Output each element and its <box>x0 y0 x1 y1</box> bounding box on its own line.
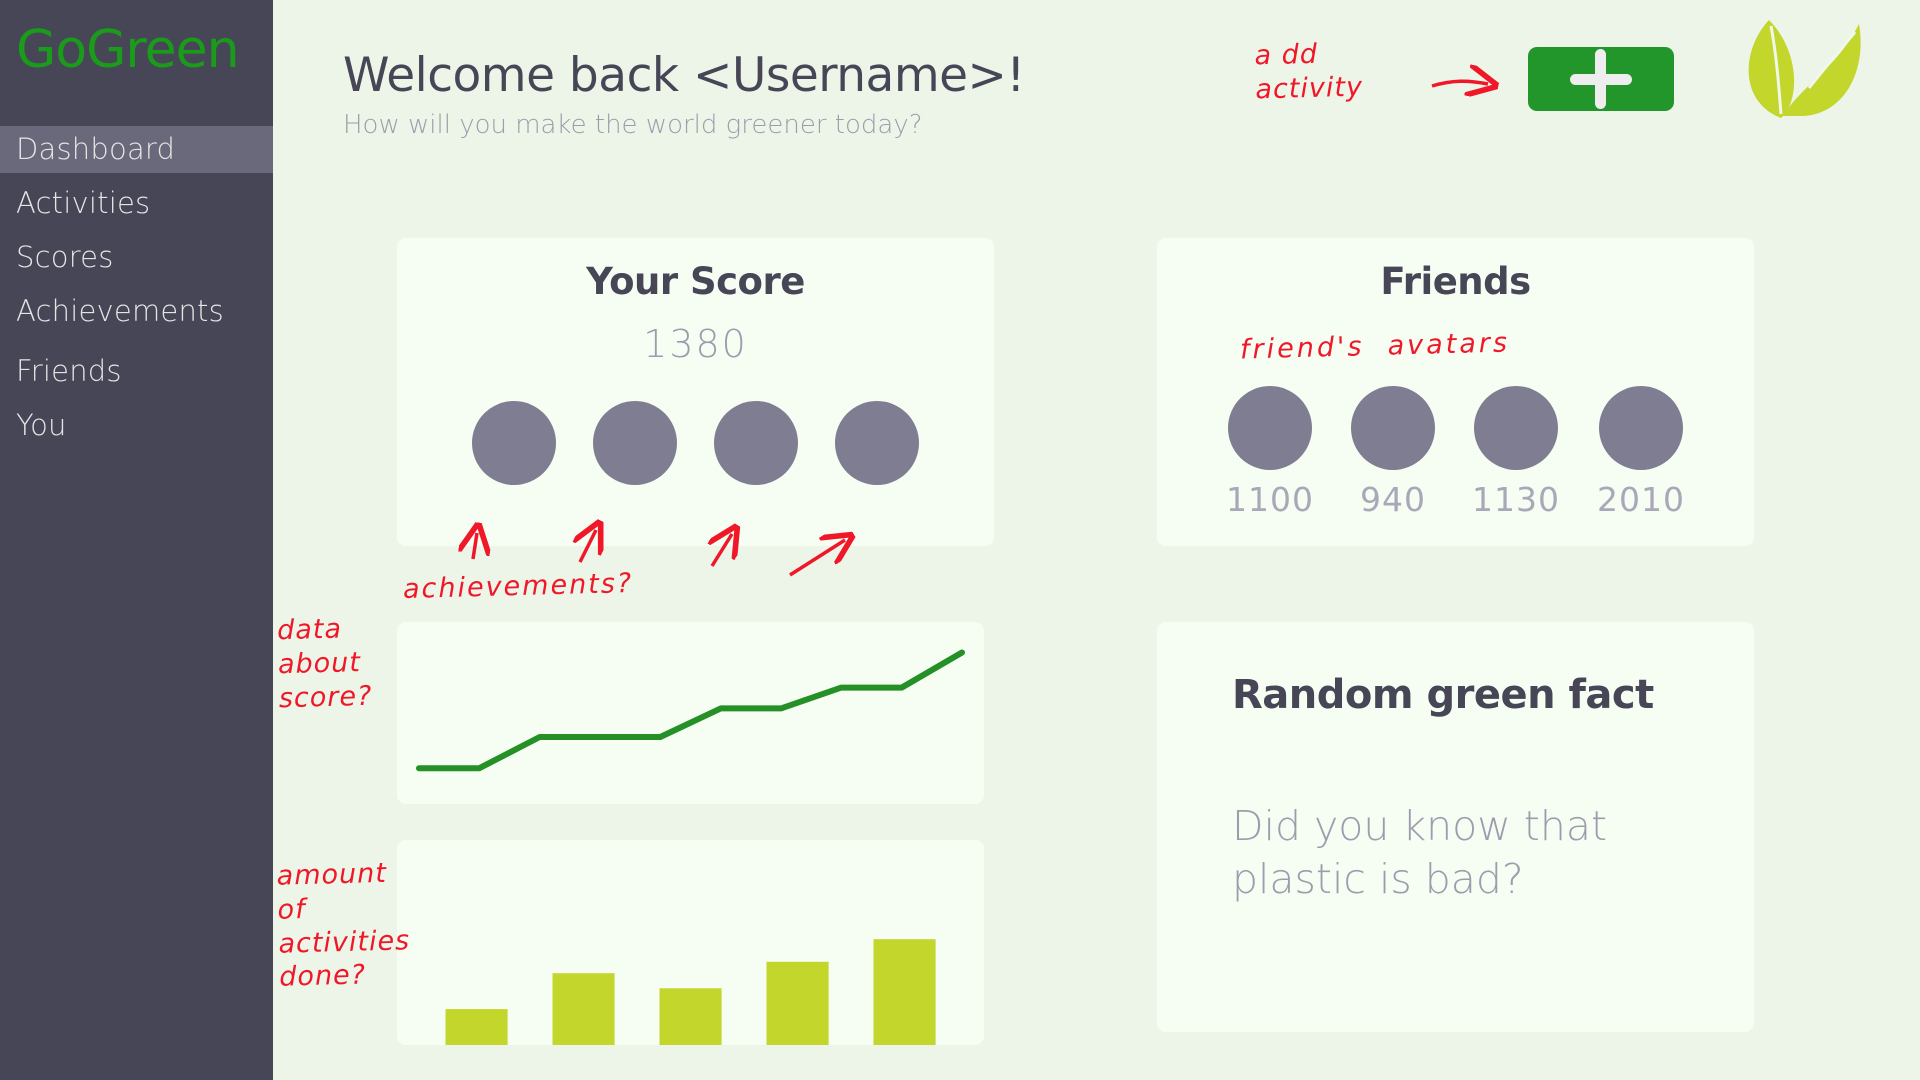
friend-score: 2010 <box>1597 480 1685 519</box>
bar <box>660 988 722 1045</box>
sidebar-item-scores[interactable]: Scores <box>0 234 273 281</box>
friend-score: 940 <box>1360 480 1426 519</box>
avatar[interactable] <box>1474 386 1558 470</box>
score-line-chart[interactable] <box>397 622 984 804</box>
friend-avatar-row: 1100 940 1130 2010 <box>1157 386 1754 519</box>
achievement-badge[interactable] <box>593 401 677 485</box>
friends-card: Friends 1100 940 1130 2010 <box>1157 238 1754 546</box>
score-card: Your Score 1380 <box>397 238 994 546</box>
avatar[interactable] <box>1599 386 1683 470</box>
friends-card-title: Friends <box>1157 260 1754 303</box>
sidebar-item-label: Scores <box>16 240 114 274</box>
sidebar-item-achievements[interactable]: Achievements <box>0 288 273 335</box>
friend-item[interactable]: 940 <box>1351 386 1435 519</box>
random-fact-title: Random green fact <box>1232 672 1654 718</box>
score-value: 1380 <box>397 322 994 366</box>
page-title: Welcome back <Username>! <box>343 48 1025 103</box>
annotation-achievements: achievements? <box>403 567 634 607</box>
main-content: Welcome back <Username>! How will you ma… <box>273 0 1920 1080</box>
sidebar-item-label: Achievements <box>16 294 224 328</box>
sidebar-item-label: Friends <box>16 354 122 388</box>
friend-item[interactable]: 2010 <box>1597 386 1685 519</box>
leaf-logo-icon <box>1725 10 1865 120</box>
annotation-add-activity: a dd activity <box>1254 37 1363 107</box>
page-subtitle: How will you make the world greener toda… <box>343 110 923 140</box>
sidebar-item-label: Activities <box>16 186 150 220</box>
bar <box>874 939 936 1045</box>
plus-icon <box>1595 49 1606 109</box>
achievement-badge[interactable] <box>714 401 798 485</box>
avatar[interactable] <box>1228 386 1312 470</box>
achievement-badge-row <box>397 401 994 485</box>
friend-score: 1100 <box>1226 480 1314 519</box>
score-line-chart-card[interactable] <box>397 622 984 804</box>
sidebar-item-activities[interactable]: Activities <box>0 180 273 227</box>
sidebar-item-label: You <box>16 408 67 442</box>
sidebar-item-you[interactable]: You <box>0 402 273 449</box>
random-fact-body: Did you know that plastic is bad? <box>1232 800 1682 907</box>
bar <box>446 1009 508 1045</box>
achievement-badge[interactable] <box>472 401 556 485</box>
sidebar-item-dashboard[interactable]: Dashboard <box>0 126 273 173</box>
line-series <box>419 653 962 769</box>
random-fact-card: Random green fact Did you know that plas… <box>1157 622 1754 1032</box>
annotation-data-about-score: data about score? <box>277 612 373 716</box>
bar <box>767 962 829 1045</box>
annotation-friends-avatars: friend's avatars <box>1240 326 1511 367</box>
sidebar: GoGreen Dashboard Activities Scores Achi… <box>0 0 273 1080</box>
achievement-badge[interactable] <box>835 401 919 485</box>
sidebar-item-friends[interactable]: Friends <box>0 348 273 395</box>
friend-item[interactable]: 1130 <box>1472 386 1560 519</box>
bar <box>553 973 615 1045</box>
friend-item[interactable]: 1100 <box>1226 386 1314 519</box>
score-card-title: Your Score <box>397 260 994 303</box>
activities-bar-chart-card[interactable] <box>397 840 984 1045</box>
brand-logo-text[interactable]: GoGreen <box>16 24 239 76</box>
sidebar-item-label: Dashboard <box>16 132 175 166</box>
annotation-amount-of-activities: amount of activities done? <box>276 856 411 994</box>
friend-score: 1130 <box>1472 480 1560 519</box>
activities-bar-chart[interactable] <box>397 840 984 1045</box>
add-activity-button[interactable] <box>1528 47 1674 111</box>
avatar[interactable] <box>1351 386 1435 470</box>
